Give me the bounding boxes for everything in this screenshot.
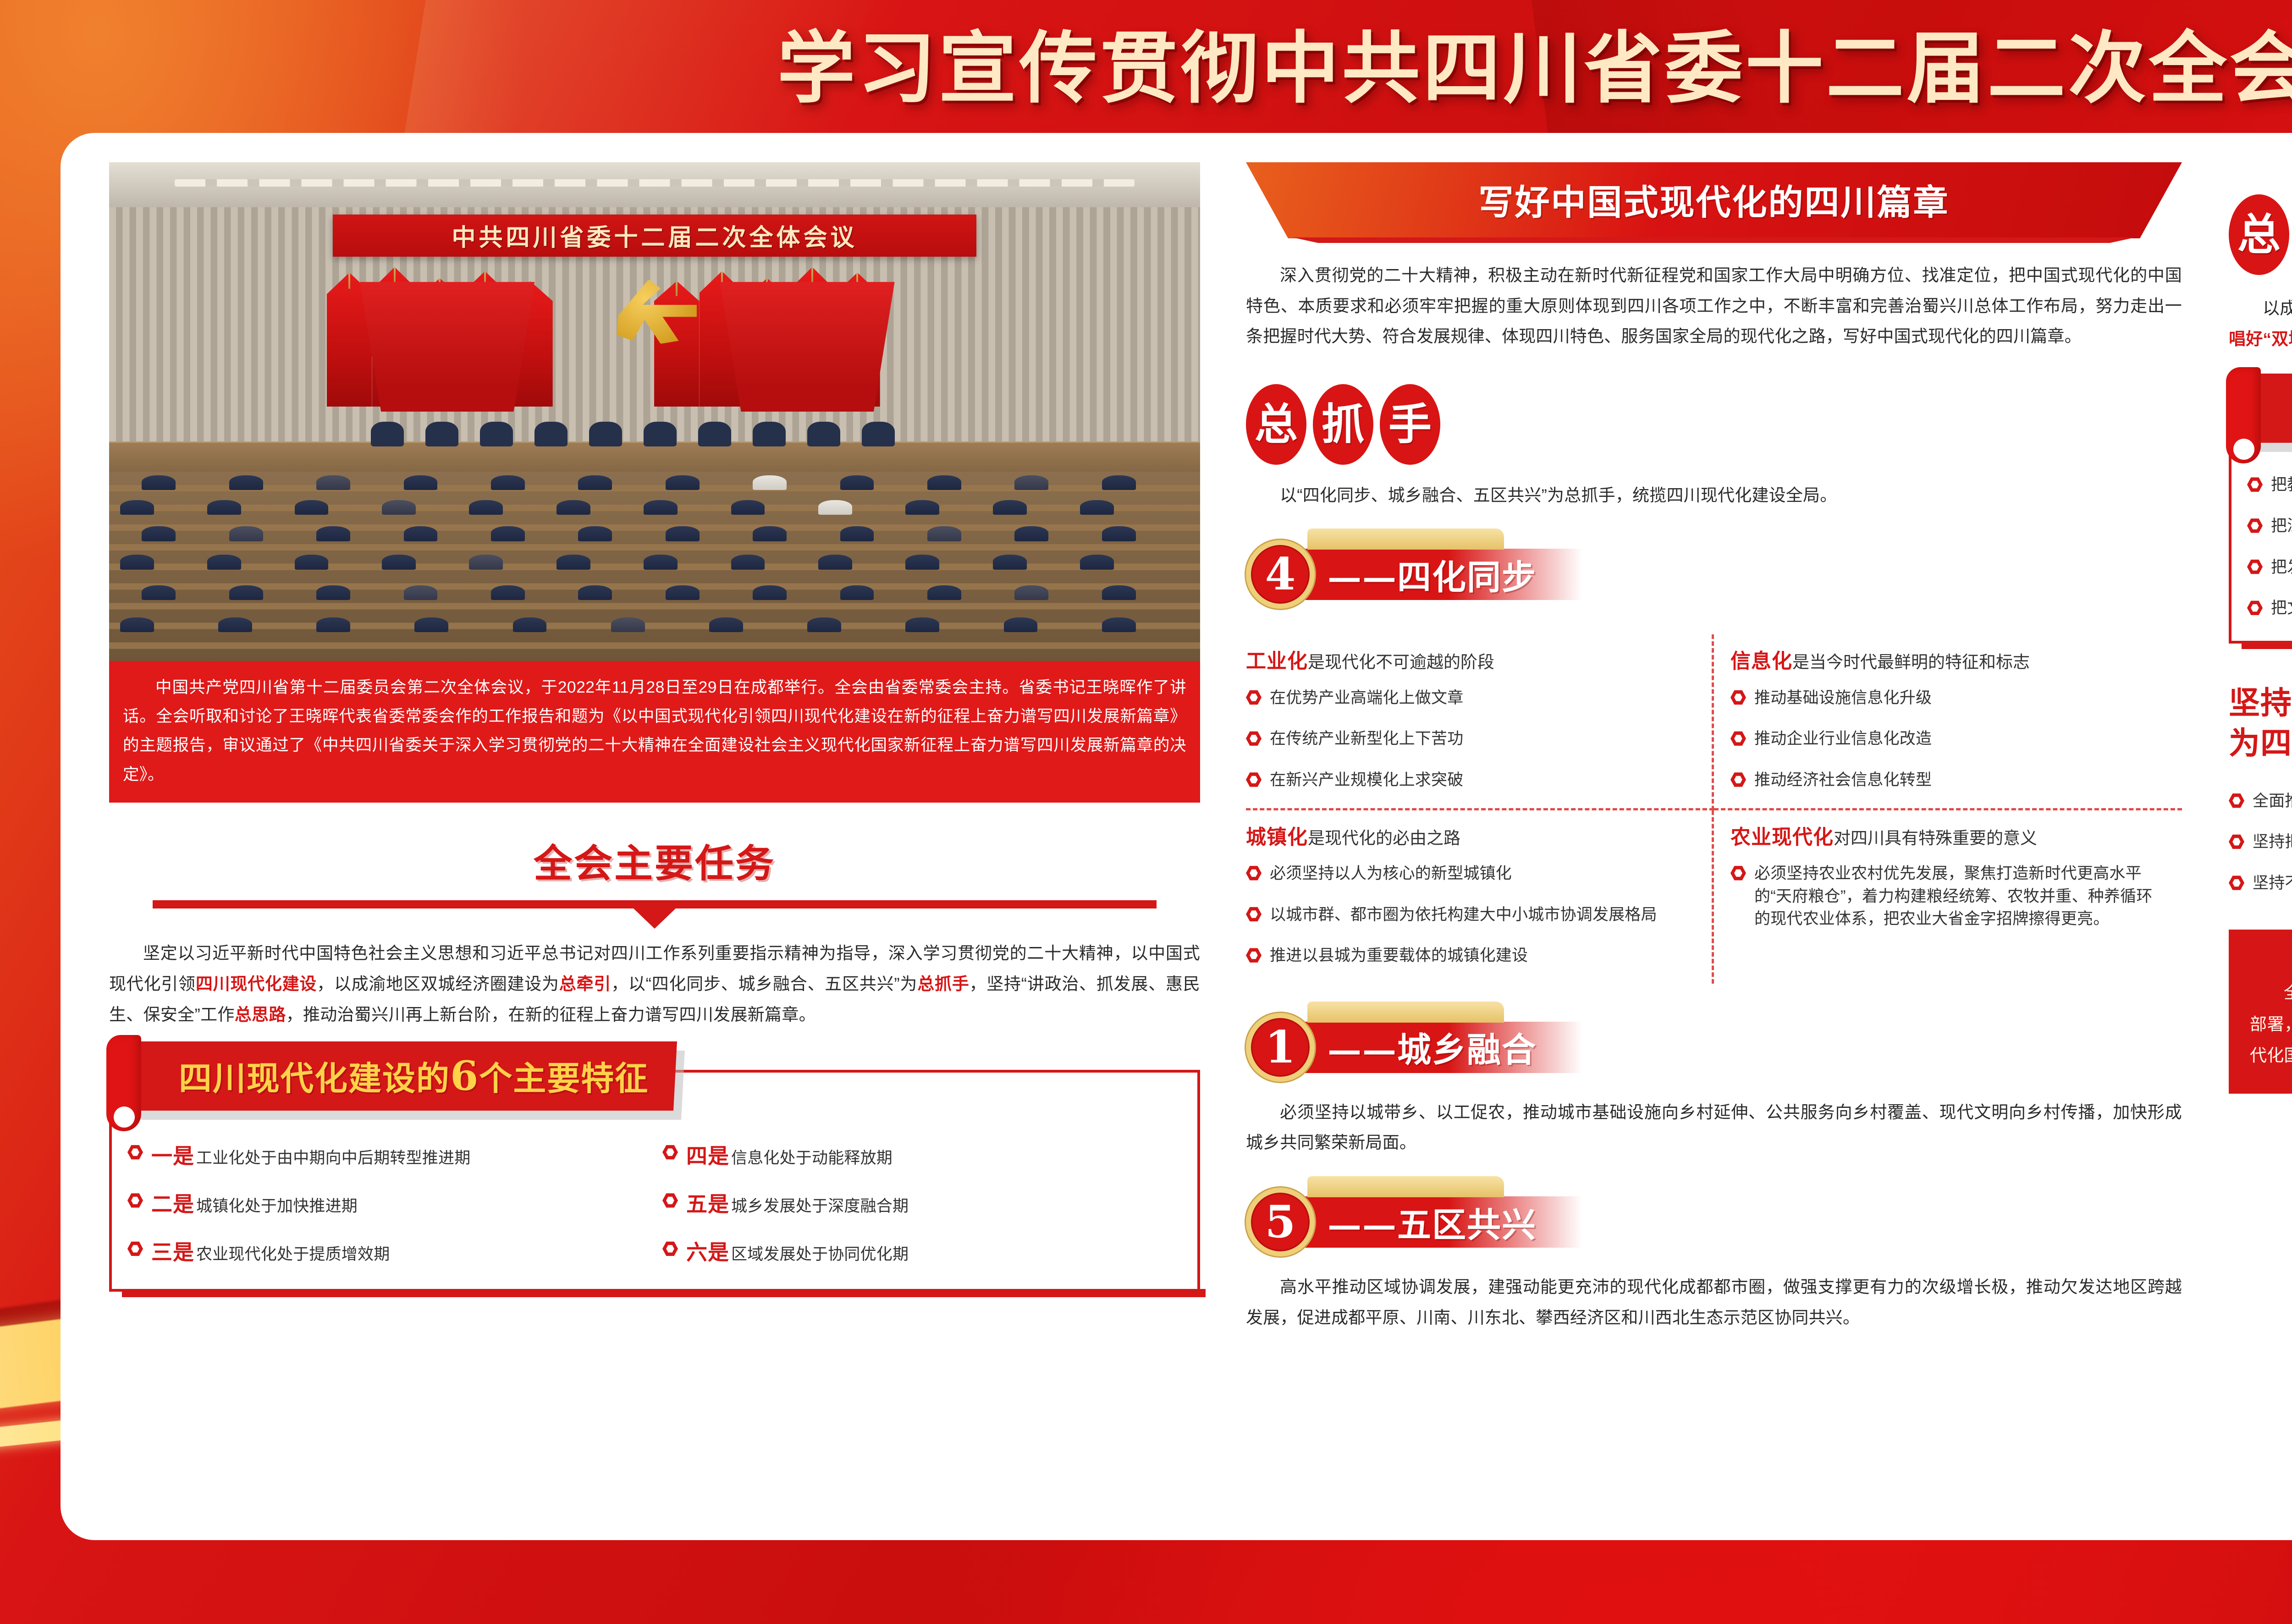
list-item-lead: 三是 (151, 1240, 194, 1265)
list-item: 推进以县城为重要载体的城镇化建设 (1246, 944, 1695, 967)
chapter-paragraph: 深入贯彻党的二十大精神，积极主动在新时代新征程党和国家工作大局中明确方位、找准定… (1246, 260, 2182, 352)
hexagon-bullet-icon (2247, 518, 2263, 534)
block1-plaque: ——城乡融合 (1303, 1022, 1582, 1073)
list-item: 推动经济社会信息化转型 (1730, 769, 2165, 792)
block1-label: ——城乡融合 (1328, 1023, 1537, 1072)
list-item-label: 全面推进党的自我净化、自我完善、自我革新、自我提高 (2253, 790, 2292, 813)
list-item: 坚持不懈用习近平新时代中国特色社会主义思想凝心铸魂 (2229, 872, 2292, 895)
left-column: 中共四川省委十二届二次全体会议 (85, 149, 1227, 1526)
quadrant-urbanization: 城镇化是现代化的必由之路 必须坚持以人为核心的新型城镇化以城市群、都市圈为依托构… (1246, 810, 1714, 984)
poster-title: 学习宣传贯彻中共四川省委十二届二次全会精神 (777, 29, 2292, 107)
block4-label: ——四化同步 (1328, 550, 1537, 599)
tasks-card: 四川现代化建设的7项重点任务 把教育科技人才作为战略先导把深化改革扩大开放作为根… (2229, 402, 2292, 644)
quadrant-items: 必须坚持以人为核心的新型城镇化以城市群、都市圈为依托构建大中小城市协调发展格局推… (1246, 862, 1695, 967)
call-text: 全省上下要更加紧密地团结在以习近平同志为核心的党中央周围，全面贯彻落实党的二十大… (2250, 977, 2292, 1072)
list-item-label: 四是信息化处于动能释放期 (686, 1141, 893, 1171)
content-panel: 中共四川省委十二届二次全体会议 (61, 133, 2292, 1540)
features-card: 四川现代化建设的6个主要特征 一是工业化处于由中期向中后期转型推进期二是城镇化处… (109, 1070, 1200, 1292)
photo-caption: 中国共产党四川省第十二届委员会第二次全体会议，于2022年11月28日至29日在… (109, 661, 1200, 803)
quadrant-items: 推动基础设施信息化升级推动企业行业信息化改造推动经济社会信息化转型 (1730, 687, 2165, 792)
hexagon-bullet-icon (1246, 690, 1262, 705)
meeting-photo-block: 中共四川省委十二届二次全体会议 (109, 162, 1200, 803)
list-item: 六是区域发展处于协同优化期 (662, 1238, 1182, 1267)
hexagon-bullet-icon (1246, 947, 1262, 963)
quadrant-heading: 信息化是当今时代最鲜明的特征和标志 (1730, 648, 2165, 674)
quadrant-heading: 农业现代化对四川具有特殊重要的意义 (1730, 824, 2165, 850)
stage-drape-left (360, 282, 534, 412)
list-item: 在新兴产业规模化上求突破 (1246, 769, 1695, 792)
list-item: 必须坚持以人为核心的新型城镇化 (1246, 862, 1695, 885)
ribbon-curl-icon (106, 1035, 141, 1131)
chapter-flag-title: 写好中国式现代化的四川篇章 (1246, 162, 2182, 238)
block4-header: 4 ——四化同步 (1246, 540, 2182, 609)
list-item-label: 把深化改革扩大开放作为根本动力 (2271, 515, 2292, 538)
hexagon-bullet-icon (2247, 559, 2263, 575)
ribbon-curl-icon (2226, 367, 2261, 463)
block5-paragraph: 高水平推动区域协调发展，建强动能更充沛的现代化成都都市圈，做强支撑更有力的次级增… (1246, 1272, 2182, 1333)
middle-column: 写好中国式现代化的四川篇章 深入贯彻党的二十大精神，积极主动在新时代新征程党和国… (1227, 149, 2208, 1526)
list-item: 以城市群、都市圈为依托构建大中小城市协调发展格局 (1246, 903, 1695, 926)
party-heading-line2: 为四川现代化建设提供坚强保证 (2229, 723, 2292, 764)
call-box: 全会号召 全省上下要更加紧密地团结在以习近平同志为核心的党中央周围，全面贯彻落实… (2229, 930, 2292, 1094)
hall-ceiling (109, 162, 1200, 207)
hexagon-bullet-icon (1730, 731, 1746, 746)
hexagon-bullet-icon (2229, 834, 2244, 849)
tasks-list: 把教育科技人才作为战略先导把深化改革扩大开放作为根本动力把发展全过程人民民主作为… (2247, 473, 2292, 622)
emphasis-text: 四川现代化建设 (196, 974, 317, 993)
quadrant-agricultural-modernization: 农业现代化对四川具有特殊重要的意义 必须坚持农业农村优先发展，聚焦打造新时代更高… (1714, 810, 2182, 984)
list-item-label: 三是农业现代化处于提质增效期 (151, 1238, 390, 1267)
hexagon-bullet-icon (1246, 907, 1262, 922)
zongqianyin-paragraph: 以成渝地区双城经济圈建设作为四川现代化建设的总牵引，加强与重庆方面全方位协作，在… (2229, 293, 2292, 354)
poster-title-bar: 学习宣传贯彻中共四川省委十二届二次全会精神 (0, 16, 2292, 121)
hexagon-bullet-icon (2247, 600, 2263, 616)
list-item-label: 在传统产业新型化上下苦功 (1270, 727, 1463, 750)
list-item-label: 五是城乡发展处于深度融合期 (686, 1189, 909, 1219)
list-item-label: 把发展全过程人民民主作为重要保障 (2271, 556, 2292, 579)
hexagon-bullet-icon (127, 1241, 143, 1256)
list-item-label: 在优势产业高端化上做文章 (1270, 687, 1463, 710)
hexagon-bullet-icon (1730, 772, 1746, 787)
block5-number: 5 (1246, 1188, 1315, 1256)
list-item-label: 推动经济社会信息化转型 (1754, 769, 1932, 792)
hexagon-bullet-icon (1730, 865, 1746, 881)
hexagon-bullet-icon (2229, 875, 2244, 891)
list-item: 推动企业行业信息化改造 (1730, 727, 2165, 750)
features-ribbon-text: 四川现代化建设的6个主要特征 (179, 1051, 649, 1100)
hexagon-bullet-icon (1246, 731, 1262, 746)
list-item-label: 坚持把党的政治建设摆在首位 (2253, 831, 2292, 853)
block1-number: 1 (1246, 1013, 1315, 1082)
oval-char-zongzhuashou: 抓 (1313, 384, 1373, 465)
list-item: 把发展全过程人民民主作为重要保障 (2247, 556, 2292, 579)
features-ribbon: 四川现代化建设的6个主要特征 (133, 1041, 677, 1111)
list-item: 把深化改革扩大开放作为根本动力 (2247, 515, 2292, 538)
hexagon-bullet-icon (662, 1241, 678, 1256)
list-item: 推动基础设施信息化升级 (1730, 687, 2165, 710)
right-column: 总牵引 以成渝地区双城经济圈建设作为四川现代化建设的总牵引，加强与重庆方面全方位… (2208, 149, 2292, 1526)
list-item-label: 推动企业行业信息化改造 (1754, 727, 1932, 750)
list-item-lead: 五是 (686, 1192, 729, 1217)
hexagon-bullet-icon (662, 1193, 678, 1208)
list-item: 全面推进党的自我净化、自我完善、自我革新、自我提高 (2229, 790, 2292, 813)
list-item: 二是城镇化处于加快推进期 (127, 1189, 647, 1219)
list-item-label: 把文化自信自强作为持久精神力量 (2271, 597, 2292, 620)
hexagon-bullet-icon (662, 1145, 678, 1160)
hall-banner-text: 中共四川省委十二届二次全体会议 (452, 218, 857, 253)
chapter-flag-title-shadow (1246, 237, 2182, 245)
list-item: 一是工业化处于由中期向中后期转型推进期 (127, 1141, 647, 1171)
quadrant-informatization: 信息化是当今时代最鲜明的特征和标志 推动基础设施信息化升级推动企业行业信息化改造… (1714, 634, 2182, 810)
hexagon-bullet-icon (1246, 772, 1262, 787)
list-item: 五是城乡发展处于深度融合期 (662, 1189, 1182, 1219)
tasks-list-left: 把教育科技人才作为战略先导把深化改革扩大开放作为根本动力把发展全过程人民民主作为… (2247, 473, 2292, 622)
list-item: 必须坚持农业农村优先发展，聚焦打造新时代更高水平的“天府粮仓”，着力构建粮经统筹… (1730, 862, 2165, 930)
body-text: 以成渝地区双城经济圈建设作为四川现代化建设的总牵引， (2263, 299, 2292, 318)
body-text: ，推动治蜀兴川再上新台阶，在新的征程上奋力谱写四川发展新篇章。 (286, 1005, 816, 1024)
heading-rule-arrow (153, 900, 1157, 908)
party-heading-line1: 坚持和加强党的全面领导 (2229, 683, 2292, 723)
list-item: 三是农业现代化处于提质增效期 (127, 1238, 647, 1267)
block1-paragraph: 必须坚持以城带乡、以工促农，推动城市基础设施向乡村延伸、公共服务向乡村覆盖、现代… (1246, 1097, 2182, 1158)
quadrant-items: 在优势产业高端化上做文章在传统产业新型化上下苦功在新兴产业规模化上求突破 (1246, 687, 1695, 792)
quadrant-heading: 工业化是现代化不可逾越的阶段 (1246, 648, 1695, 674)
hexagon-bullet-icon (2247, 477, 2263, 492)
task-heading: 全会主要任务 (534, 833, 776, 888)
list-item-label: 坚持不懈用习近平新时代中国特色社会主义思想凝心铸魂 (2253, 872, 2292, 895)
list-item-label: 推进以县城为重要载体的城镇化建设 (1270, 944, 1528, 967)
features-list: 一是工业化处于由中期向中后期转型推进期二是城镇化处于加快推进期三是农业现代化处于… (127, 1141, 1182, 1271)
hexagon-bullet-icon (2229, 793, 2244, 809)
hall-banner: 中共四川省委十二届二次全体会议 (333, 215, 976, 256)
hexagon-bullet-icon (127, 1145, 143, 1160)
list-item-lead: 四是 (686, 1144, 729, 1168)
list-item-label: 推动基础设施信息化升级 (1754, 687, 1932, 710)
hexagon-bullet-icon (127, 1193, 143, 1208)
party-list: 全面推进党的自我净化、自我完善、自我革新、自我提高坚持把党的政治建设摆在首位坚持… (2229, 790, 2292, 897)
list-item: 四是信息化处于动能释放期 (662, 1141, 1182, 1171)
list-item-lead: 二是 (151, 1192, 194, 1217)
hexagon-bullet-icon (1730, 690, 1746, 705)
list-item: 在传统产业新型化上下苦功 (1246, 727, 1695, 750)
audience-area (109, 472, 1200, 661)
block1-header: 1 ——城乡融合 (1246, 1013, 2182, 1082)
zongzhuashou-paragraph: 以“四化同步、城乡融合、五区共兴”为总抓手，统揽四川现代化建设全局。 (1246, 480, 2182, 511)
red-flag (654, 281, 700, 407)
emphasis-text: 总牵引 (559, 974, 611, 993)
quadrant-items: 必须坚持农业农村优先发展，聚焦打造新时代更高水平的“天府粮仓”，着力构建粮经统筹… (1730, 862, 2165, 930)
list-item-label: 一是工业化处于由中期向中后期转型推进期 (151, 1141, 470, 1171)
party-list-left: 全面推进党的自我净化、自我完善、自我革新、自我提高坚持把党的政治建设摆在首位坚持… (2229, 790, 2292, 897)
list-item-label: 二是城镇化处于加快推进期 (151, 1189, 358, 1219)
emphasis-text: 总思路 (235, 1005, 286, 1024)
list-item: 把教育科技人才作为战略先导 (2247, 473, 2292, 496)
quadrant-industrialization: 工业化是现代化不可逾越的阶段 在优势产业高端化上做文章在传统产业新型化上下苦功在… (1246, 634, 1714, 810)
chapter-flag-title-text: 写好中国式现代化的四川篇章 (1479, 182, 1950, 223)
zongzhuashou-ovals: 总抓手 (1246, 384, 2182, 465)
hexagon-bullet-icon (1246, 865, 1262, 881)
zongqianyin-ovals: 总牵引 (2229, 194, 2292, 275)
list-item: 在优势产业高端化上做文章 (1246, 687, 1695, 710)
task-paragraph: 坚定以习近平新时代中国特色社会主义思想和习近平总书记对四川工作系列重要指示精神为… (109, 938, 1200, 1030)
meeting-photo: 中共四川省委十二届二次全体会议 (109, 162, 1200, 661)
oval-char-zongzhuashou: 手 (1380, 384, 1440, 465)
features-list-left: 一是工业化处于由中期向中后期转型推进期二是城镇化处于加快推进期三是农业现代化处于… (127, 1141, 647, 1271)
block5-label: ——五区共兴 (1328, 1198, 1537, 1247)
emphasis-text: 总抓手 (917, 974, 969, 993)
block5-header: 5 ——五区共兴 (1246, 1188, 2182, 1256)
list-item-label: 在新兴产业规模化上求突破 (1270, 769, 1463, 792)
list-item-label: 以城市群、都市圈为依托构建大中小城市协调发展格局 (1270, 903, 1657, 926)
features-list-right: 四是信息化处于动能释放期五是城乡发展处于深度融合期六是区域发展处于协同优化期 (662, 1141, 1182, 1271)
list-item-lead: 六是 (686, 1240, 729, 1265)
task-heading-block: 全会主要任务 (109, 833, 1200, 908)
oval-char-zongzhuashou: 总 (1246, 384, 1306, 465)
body-text: ，以“四化同步、城乡融合、五区共兴”为 (611, 974, 917, 993)
party-heading: 坚持和加强党的全面领导 为四川现代化建设提供坚强保证 (2229, 683, 2292, 764)
list-item-label: 必须坚持农业农村优先发展，聚焦打造新时代更高水平的“天府粮仓”，着力构建粮经统筹… (1754, 862, 2165, 930)
block4-plaque: ——四化同步 (1303, 549, 1582, 600)
block4-number: 4 (1246, 540, 1315, 609)
block5-plaque: ——五区共兴 (1303, 1196, 1582, 1248)
list-item-label: 把教育科技人才作为战略先导 (2271, 473, 2292, 496)
stage-drape-right (720, 282, 895, 412)
quadrant-heading: 城镇化是现代化的必由之路 (1246, 824, 1695, 850)
four-modernizations-grid: 工业化是现代化不可逾越的阶段 在优势产业高端化上做文章在传统产业新型化上下苦功在… (1246, 634, 2182, 984)
list-item-label: 六是区域发展处于协同优化期 (686, 1238, 909, 1267)
list-item-lead: 一是 (151, 1144, 194, 1168)
list-item: 坚持把党的政治建设摆在首位 (2229, 831, 2292, 853)
list-item-label: 必须坚持以人为核心的新型城镇化 (1270, 862, 1512, 885)
oval-char-zongqianyin: 总 (2229, 194, 2289, 275)
list-item: 把文化自信自强作为持久精神力量 (2247, 597, 2292, 620)
body-text: ，以成渝地区双城经济圈建设为 (317, 974, 559, 993)
